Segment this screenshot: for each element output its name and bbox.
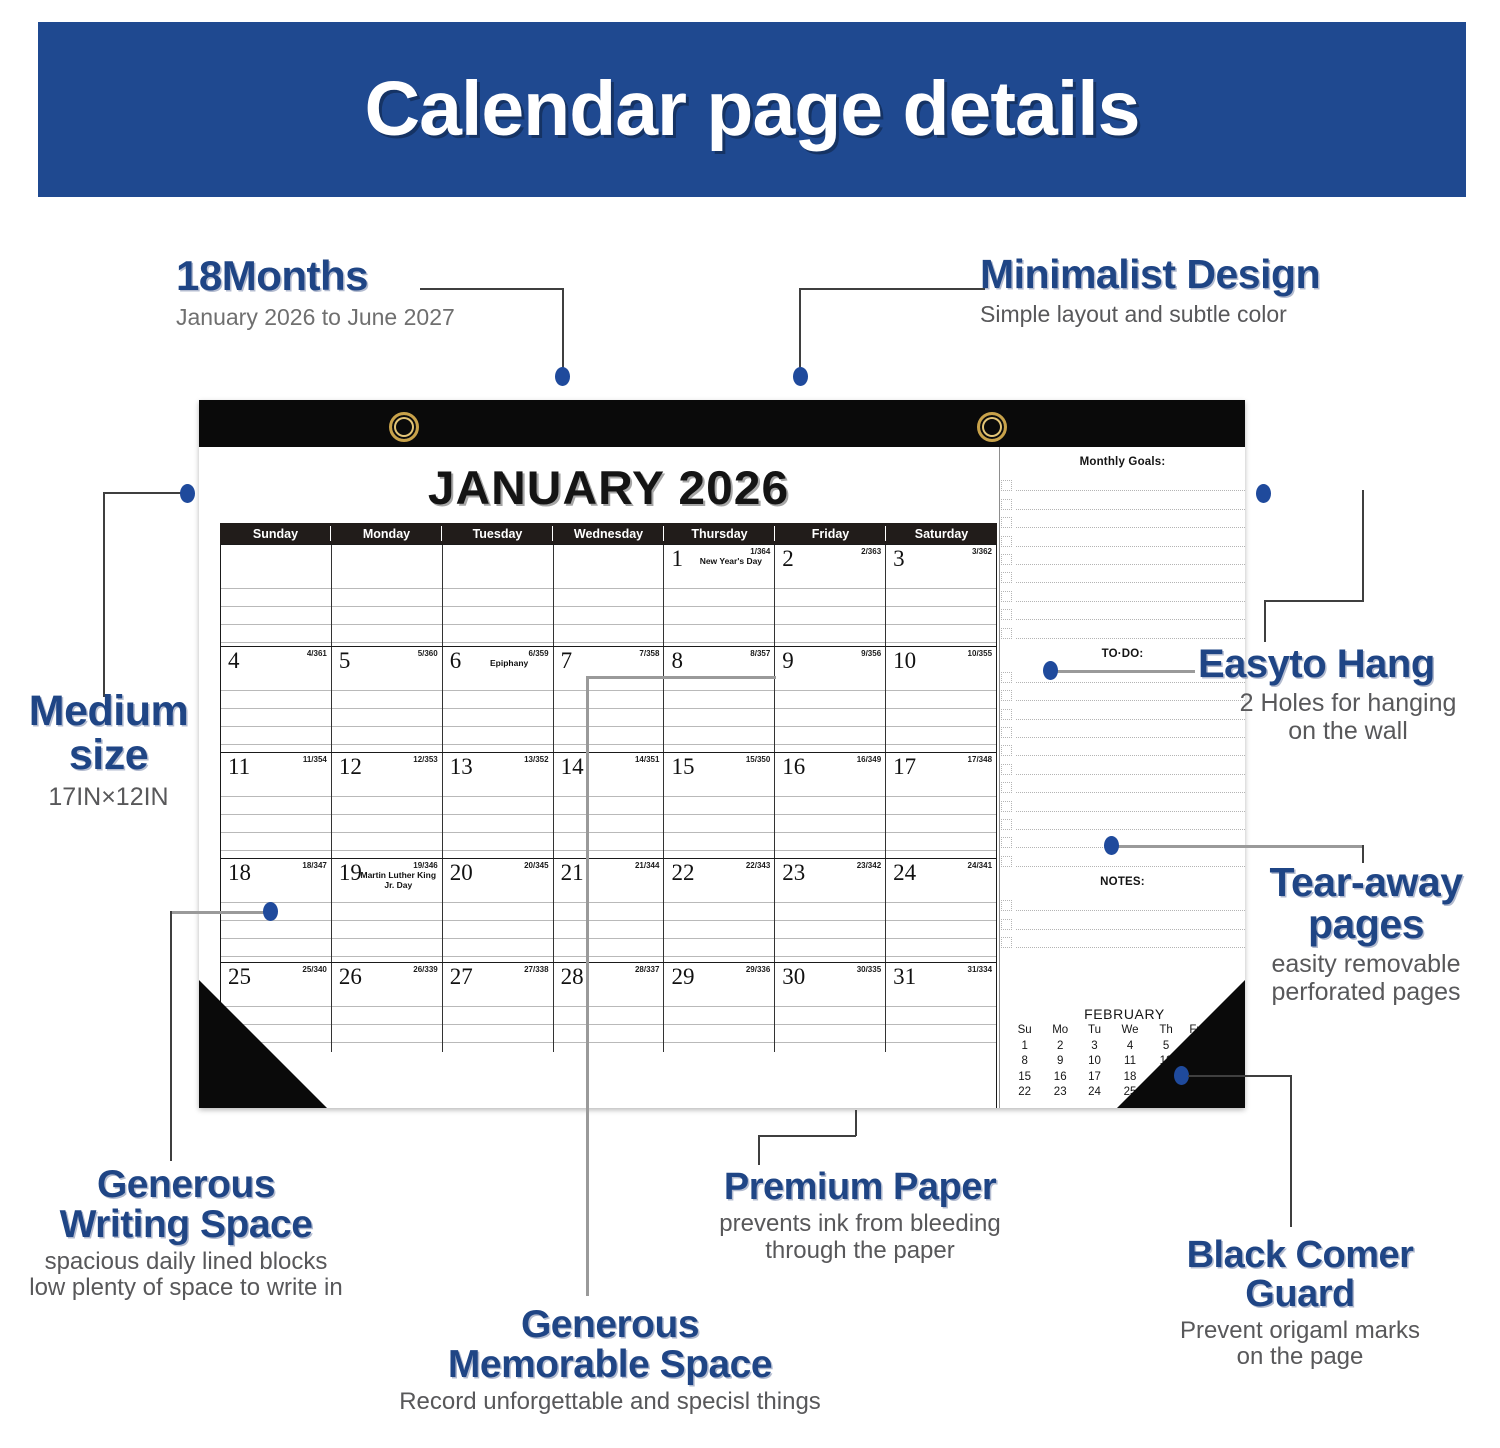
callout-minimalist-design: Minimalist Design Simple layout and subt… — [980, 254, 1320, 328]
day-number: 9 — [782, 648, 794, 674]
todo-line — [1016, 812, 1245, 830]
calendar-day-cell-19: 1919/346Martin Luther King Jr. Day — [332, 859, 443, 962]
day-of-year: 7/358 — [639, 649, 659, 658]
holiday-label: Martin Luther King Jr. Day — [358, 871, 439, 890]
callout-subtitle-line1: easity removable — [1232, 950, 1500, 978]
day-number: 26 — [339, 964, 362, 990]
day-number: 7 — [561, 648, 573, 674]
day-number: 24 — [893, 860, 916, 886]
day-of-year: 26/339 — [413, 965, 437, 974]
day-number: 18 — [228, 860, 251, 886]
calendar-day-cell-7: 77/358 — [554, 647, 665, 752]
writing-rules — [886, 885, 996, 962]
writing-rules — [443, 779, 553, 858]
calendar-day-cell-13: 1313/352 — [443, 753, 554, 858]
calendar-day-cell-empty — [332, 545, 443, 646]
connector-line — [1050, 670, 1195, 673]
calendar-main-grid: JANUARY 2026 SundayMondayTuesdayWednesda… — [220, 447, 997, 1108]
todo-line — [1016, 775, 1245, 793]
callout-subtitle-line1: 2 Holes for hanging — [1198, 689, 1498, 717]
day-number: 22 — [671, 860, 694, 886]
goal-line — [1016, 491, 1245, 509]
day-number: 28 — [561, 964, 584, 990]
calendar-day-cell-empty — [443, 545, 554, 646]
mini-cal-dow-tu: Tu — [1079, 1023, 1110, 1039]
writing-rules — [775, 779, 885, 858]
callout-subtitle: 17IN×12IN — [6, 783, 211, 811]
writing-rules — [775, 885, 885, 962]
connector-line — [586, 676, 776, 679]
calendar-day-cell-16: 1616/349 — [775, 753, 886, 858]
day-of-year: 5/360 — [418, 649, 438, 658]
day-number: 17 — [893, 754, 916, 780]
calendar-day-cell-15: 1515/350 — [664, 753, 775, 858]
day-of-year: 9/356 — [861, 649, 881, 658]
callout-18months: 18Months January 2026 to June 2027 — [176, 255, 455, 331]
black-corner-guard-left — [199, 980, 327, 1108]
day-of-year: 15/350 — [746, 755, 770, 764]
day-number: 20 — [450, 860, 473, 886]
calendar-day-cell-14: 1414/351 — [554, 753, 665, 858]
connector-line — [586, 676, 589, 1296]
writing-rules — [221, 673, 331, 752]
connector-line — [1362, 490, 1364, 601]
day-number: 10 — [893, 648, 916, 674]
day-of-year: 30/335 — [857, 965, 881, 974]
calendar-day-cell-30: 3030/335 — [775, 963, 886, 1052]
calendar-day-cell-28: 2828/337 — [554, 963, 665, 1052]
callout-title-line1: Black Comer — [1105, 1236, 1495, 1275]
callout-title-line1: Generous — [330, 1305, 890, 1345]
day-number: 6 — [450, 648, 462, 674]
mini-cal-day-3: 3 — [1079, 1039, 1110, 1055]
connector-line — [1264, 600, 1364, 602]
writing-rules — [332, 989, 442, 1052]
day-number: 30 — [782, 964, 805, 990]
writing-rules — [443, 989, 553, 1052]
callout-subtitle-line2: through the paper — [655, 1238, 1065, 1265]
goal-line — [1016, 620, 1245, 638]
callout-subtitle: Simple layout and subtle color — [980, 302, 1320, 328]
note-line — [1016, 893, 1245, 911]
day-number: 21 — [561, 860, 584, 886]
callout-black-corner-guard: Black Comer Guard Prevent origaml marks … — [1105, 1236, 1495, 1371]
notes-label: NOTES: — [1000, 876, 1245, 888]
calendar-week-row: 1818/3471919/346Martin Luther King Jr. D… — [221, 858, 996, 962]
connector-line — [1188, 1075, 1291, 1077]
writing-rules — [554, 989, 664, 1052]
goal-line — [1016, 583, 1245, 601]
day-of-week-tuesday: Tuesday — [442, 523, 553, 544]
calendar-day-cell-31: 3131/334 — [886, 963, 996, 1052]
day-of-year: 4/361 — [307, 649, 327, 658]
callout-title-line2: size — [6, 734, 211, 778]
day-of-year: 24/341 — [968, 861, 992, 870]
connector-line — [758, 1135, 760, 1165]
todo-line — [1016, 848, 1245, 866]
mini-cal-day-10: 10 — [1079, 1054, 1110, 1070]
writing-rules — [664, 885, 774, 962]
calendar-day-cell-4: 44/361 — [221, 647, 332, 752]
note-line — [1016, 911, 1245, 929]
callout-title-line2: Memorable Space — [330, 1345, 890, 1385]
calendar-day-cell-3: 33/362 — [886, 545, 996, 646]
day-of-year: 3/362 — [972, 547, 992, 556]
grommet-hole-icon — [389, 412, 419, 442]
day-of-year: 12/353 — [413, 755, 437, 764]
day-of-year: 18/347 — [302, 861, 326, 870]
day-of-year: 6/359 — [529, 649, 549, 658]
day-of-week-thursday: Thursday — [664, 523, 775, 544]
calendar-day-cell-9: 99/356 — [775, 647, 886, 752]
connector-line — [1290, 1075, 1292, 1227]
day-of-year: 10/355 — [968, 649, 992, 658]
goal-line — [1016, 510, 1245, 528]
mini-cal-day-1: 1 — [1008, 1039, 1041, 1055]
writing-rules — [775, 989, 885, 1052]
day-of-week-friday: Friday — [775, 523, 886, 544]
header-banner: Calendar page details — [38, 22, 1466, 197]
connector-dot — [1256, 484, 1271, 503]
calendar-body: JANUARY 2026 SundayMondayTuesdayWednesda… — [199, 447, 1245, 1108]
callout-title: Easyto Hang — [1198, 644, 1498, 685]
todo-line — [1016, 756, 1245, 774]
calendar-day-cell-12: 1212/353 — [332, 753, 443, 858]
callout-title: 18Months — [176, 255, 455, 298]
calendar-day-cell-26: 2626/339 — [332, 963, 443, 1052]
writing-rules — [775, 571, 885, 646]
connector-dot — [1104, 836, 1119, 855]
calendar-day-cell-empty — [221, 545, 332, 646]
callout-title: Premium Paper — [655, 1168, 1065, 1207]
callout-title-line1: Tear-away — [1232, 862, 1500, 904]
mini-cal-day-16: 16 — [1041, 1070, 1079, 1086]
connector-line — [103, 492, 187, 494]
callout-subtitle-line1: prevents ink from bleeding — [655, 1211, 1065, 1238]
day-of-year: 14/351 — [635, 755, 659, 764]
day-number: 4 — [228, 648, 240, 674]
calendar-day-cell-10: 1010/355 — [886, 647, 996, 752]
day-number: 14 — [561, 754, 584, 780]
connector-dot — [180, 484, 195, 503]
writing-rules — [886, 779, 996, 858]
callout-title-line2: pages — [1232, 904, 1500, 946]
mini-cal-day-8: 8 — [1008, 1054, 1041, 1070]
day-number: 15 — [671, 754, 694, 780]
day-of-year: 11/354 — [303, 755, 327, 764]
day-of-year: 20/345 — [524, 861, 548, 870]
writing-rules — [554, 885, 664, 962]
callout-title-line1: Generous — [0, 1165, 372, 1205]
holiday-label: New Year's Day — [690, 557, 771, 567]
calendar-day-cell-29: 2929/336 — [664, 963, 775, 1052]
writing-rules — [886, 571, 996, 646]
callout-title: Minimalist Design — [980, 254, 1320, 296]
writing-rules — [664, 571, 774, 646]
calendar-day-cell-20: 2020/345 — [443, 859, 554, 962]
writing-rules — [332, 779, 442, 858]
page-title: Calendar page details — [365, 65, 1140, 154]
day-of-year: 1/364 — [750, 547, 770, 556]
writing-rules — [554, 673, 664, 752]
callout-subtitle-line2: perforated pages — [1232, 978, 1500, 1006]
notes-lines — [1000, 893, 1245, 948]
mini-cal-dow-mo: Mo — [1041, 1023, 1079, 1039]
calendar-day-cell-27: 2727/338 — [443, 963, 554, 1052]
callout-title-line2: Writing Space — [0, 1205, 372, 1245]
calendar-day-cell-23: 2323/342 — [775, 859, 886, 962]
writing-rules — [221, 779, 331, 858]
writing-rules — [664, 989, 774, 1052]
writing-rules — [443, 885, 553, 962]
writing-rules — [221, 885, 331, 962]
day-of-week-wednesday: Wednesday — [553, 523, 664, 544]
calendar-day-cell-22: 2222/343 — [664, 859, 775, 962]
mini-cal-day-17: 17 — [1079, 1070, 1110, 1086]
callout-subtitle-line2: on the page — [1105, 1344, 1495, 1371]
callout-title-line2: Guard — [1105, 1275, 1495, 1314]
monthly-goals-label: Monthly Goals: — [1000, 456, 1245, 468]
callout-medium-size: Medium size 17IN×12IN — [6, 690, 211, 811]
day-number: 27 — [450, 964, 473, 990]
day-number: 23 — [782, 860, 805, 886]
writing-rules — [221, 571, 331, 646]
day-of-year: 23/342 — [857, 861, 881, 870]
day-number: 29 — [671, 964, 694, 990]
writing-rules — [443, 571, 553, 646]
connector-dot — [263, 902, 278, 921]
callout-subtitle-line1: Prevent origaml marks — [1105, 1318, 1495, 1345]
calendar-day-cell-11: 1111/354 — [221, 753, 332, 858]
connector-line — [170, 911, 172, 1161]
goal-line — [1016, 565, 1245, 583]
callout-easy-to-hang: Easyto Hang 2 Holes for hanging on the w… — [1198, 644, 1498, 745]
day-of-week-saturday: Saturday — [886, 523, 997, 544]
goal-line — [1016, 602, 1245, 620]
grommet-hole-icon — [977, 412, 1007, 442]
day-of-year: 17/348 — [968, 755, 992, 764]
day-number: 13 — [450, 754, 473, 780]
callout-generous-writing-space: Generous Writing Space spacious daily li… — [0, 1165, 372, 1302]
connector-line — [1264, 600, 1266, 642]
day-of-year: 8/357 — [750, 649, 770, 658]
calendar-day-cell-empty — [554, 545, 665, 646]
note-line — [1016, 930, 1245, 948]
calendar-week-row: 1111/3541212/3531313/3521414/3511515/350… — [221, 752, 996, 858]
mini-cal-day-15: 15 — [1008, 1070, 1041, 1086]
connector-line — [855, 1110, 857, 1136]
mini-cal-day-22: 22 — [1008, 1085, 1041, 1101]
goal-line — [1016, 547, 1245, 565]
calendar-week-row: 11/364New Year's Day22/36333/362 — [221, 544, 996, 646]
day-of-year: 21/344 — [635, 861, 659, 870]
callout-subtitle: January 2026 to June 2027 — [176, 305, 455, 331]
day-number: 31 — [893, 964, 916, 990]
connector-line — [170, 911, 273, 914]
day-number: 5 — [339, 648, 351, 674]
monthly-goals-lines — [1000, 473, 1245, 639]
day-number: 2 — [782, 546, 794, 572]
calendar-black-top-bar — [199, 400, 1245, 447]
connector-line — [1118, 845, 1364, 848]
month-title: JANUARY 2026 — [212, 460, 1005, 515]
mini-cal-dow-su: Su — [1008, 1023, 1041, 1039]
calendar-day-cell-24: 2424/341 — [886, 859, 996, 962]
day-of-year: 22/343 — [746, 861, 770, 870]
calendar-day-cell-2: 22/363 — [775, 545, 886, 646]
connector-dot — [1174, 1066, 1189, 1085]
connector-line — [103, 492, 105, 697]
writing-rules — [775, 673, 885, 752]
callout-subtitle-line2: on the wall — [1198, 717, 1498, 745]
calendar-day-cell-8: 88/357 — [664, 647, 775, 752]
day-of-year: 25/340 — [302, 965, 326, 974]
day-of-week-header-bar: SundayMondayTuesdayWednesdayThursdayFrid… — [220, 523, 997, 544]
day-of-year: 13/352 — [524, 755, 548, 764]
goal-line — [1016, 528, 1245, 546]
day-of-week-monday: Monday — [331, 523, 442, 544]
calendar-day-cell-17: 1717/348 — [886, 753, 996, 858]
todo-line — [1016, 793, 1245, 811]
connector-dot — [793, 367, 808, 386]
callout-title-line1: Medium — [6, 690, 211, 734]
day-number: 16 — [782, 754, 805, 780]
day-of-year: 28/337 — [635, 965, 659, 974]
day-number: 8 — [671, 648, 683, 674]
day-number: 12 — [339, 754, 362, 780]
holiday-label: Epiphany — [469, 659, 550, 669]
day-of-year: 19/346 — [413, 861, 437, 870]
writing-rules — [554, 571, 664, 646]
mini-cal-day-23: 23 — [1041, 1085, 1079, 1101]
calendar-day-cell-5: 55/360 — [332, 647, 443, 752]
writing-rules — [443, 673, 553, 752]
goal-line — [1016, 473, 1245, 491]
day-number: 1 — [671, 546, 683, 572]
calendar-week-row: 2525/3402626/3392727/3382828/3372929/336… — [221, 962, 996, 1052]
mini-cal-day-9: 9 — [1041, 1054, 1079, 1070]
writing-rules — [332, 571, 442, 646]
callout-subtitle-line2: low plenty of space to write in — [0, 1275, 372, 1302]
mini-cal-day-24: 24 — [1079, 1085, 1110, 1101]
callout-generous-memorable-space: Generous Memorable Space Record unforget… — [330, 1305, 890, 1415]
callout-subtitle: Record unforgettable and specisl things — [330, 1389, 890, 1416]
calendar-day-cell-1: 11/364New Year's Day — [664, 545, 775, 646]
writing-rules — [886, 989, 996, 1052]
day-of-year: 16/349 — [857, 755, 881, 764]
callout-tear-away-pages: Tear-away pages easity removable perfora… — [1232, 862, 1500, 1006]
calendar-weeks: 11/364New Year's Day22/36333/36244/36155… — [220, 544, 997, 1108]
day-of-week-sunday: Sunday — [220, 523, 331, 544]
calendar-sheet-image: JANUARY 2026 SundayMondayTuesdayWednesda… — [199, 400, 1245, 1108]
callout-premium-paper: Premium Paper prevents ink from bleeding… — [655, 1168, 1065, 1265]
connector-dot — [1043, 661, 1058, 680]
connector-line — [562, 288, 564, 370]
writing-rules — [332, 885, 442, 962]
calendar-day-cell-21: 2121/344 — [554, 859, 665, 962]
calendar-week-row: 44/36155/36066/359Epiphany77/35888/35799… — [221, 646, 996, 752]
black-corner-guard-right — [1117, 980, 1245, 1108]
day-number: 11 — [228, 754, 250, 780]
connector-line — [799, 288, 801, 370]
day-of-year: 31/334 — [968, 965, 992, 974]
connector-dot — [555, 367, 570, 386]
day-of-year: 27/338 — [524, 965, 548, 974]
calendar-day-cell-6: 66/359Epiphany — [443, 647, 554, 752]
writing-rules — [332, 673, 442, 752]
day-number: 3 — [893, 546, 905, 572]
callout-subtitle-line1: spacious daily lined blocks — [0, 1249, 372, 1276]
day-of-year: 29/336 — [746, 965, 770, 974]
writing-rules — [886, 673, 996, 752]
writing-rules — [664, 779, 774, 858]
mini-cal-day-2: 2 — [1041, 1039, 1079, 1055]
writing-rules — [554, 779, 664, 858]
day-of-year: 2/363 — [861, 547, 881, 556]
writing-rules — [664, 673, 774, 752]
connector-line — [800, 288, 985, 290]
connector-line — [758, 1135, 856, 1137]
